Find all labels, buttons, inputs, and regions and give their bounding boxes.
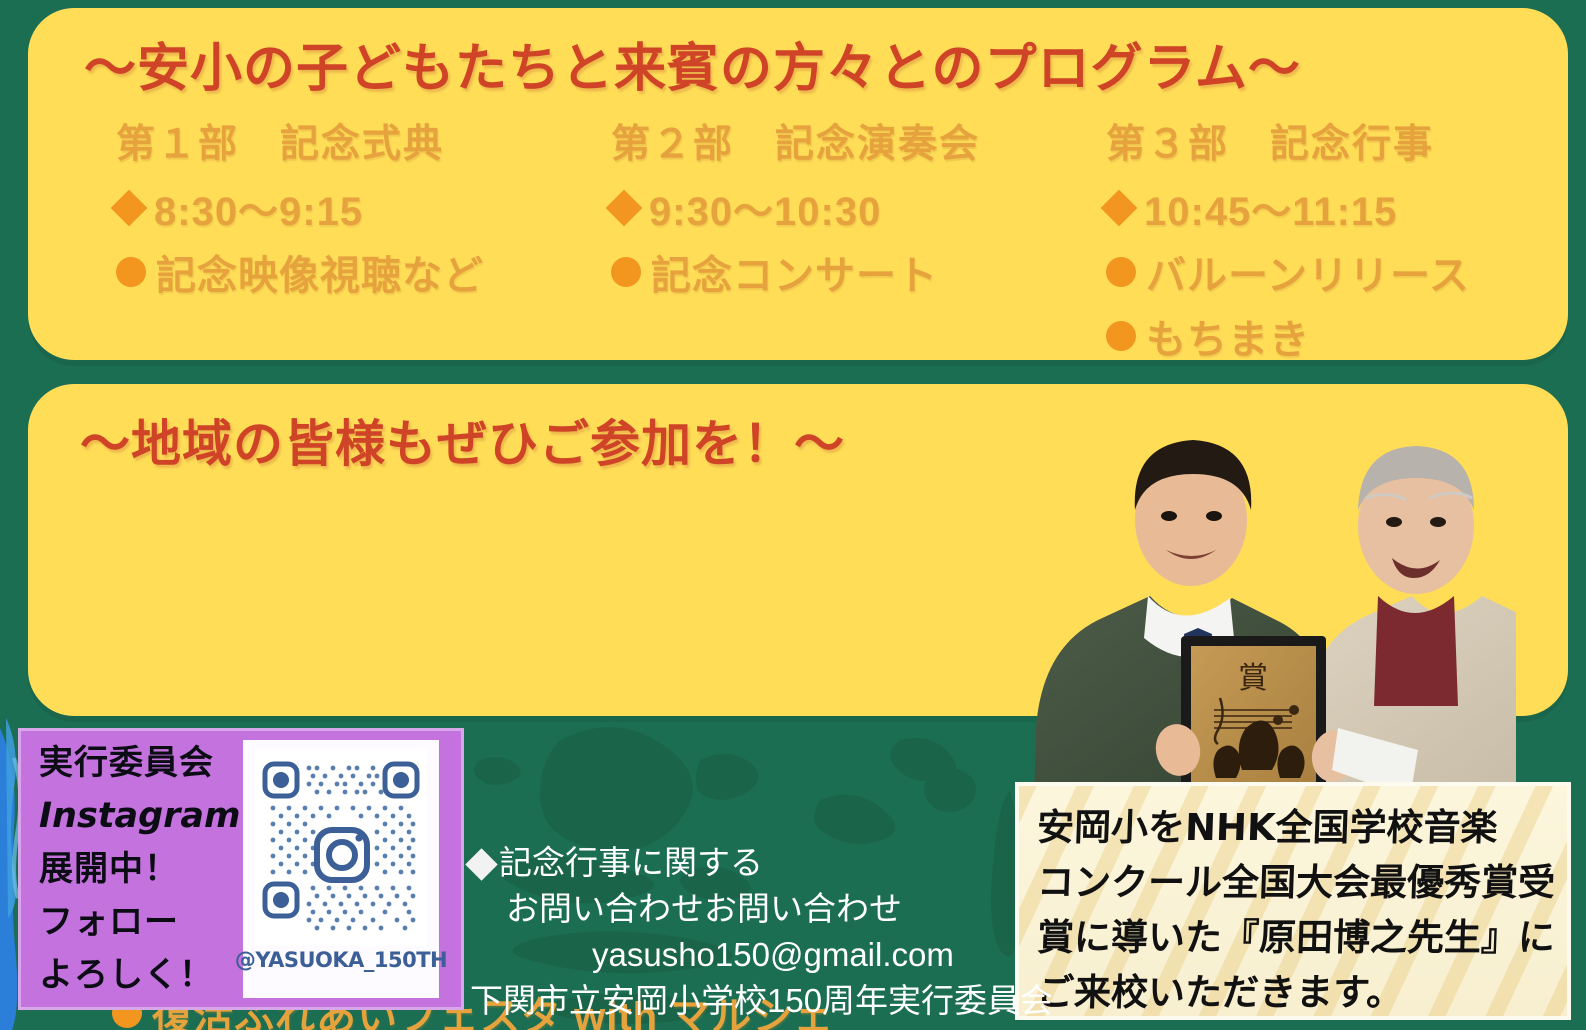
circle-bullet-icon [1106, 257, 1136, 287]
program-item-row: バルーンリリース [1106, 243, 1470, 301]
program-title: 第２部 記念演奏会 [611, 113, 980, 169]
instagram-promo-box[interactable]: 実行委員会 Instagram 展開中！ フォロー よろしく！ [18, 728, 464, 1010]
diamond-bullet-icon [1101, 190, 1138, 227]
community-heading: 〜地域の皆様もぜひご参加を！〜 [80, 404, 845, 476]
program-time: 8:30〜9:15 [154, 179, 363, 237]
program-time: 9:30〜10:30 [649, 179, 881, 237]
note-line: ご来校いただきます。 [1036, 965, 1552, 1020]
svg-text:賞: 賞 [1238, 661, 1268, 696]
qr-code-icon[interactable] [255, 750, 427, 946]
program-title: 第３部 記念行事 [1106, 113, 1470, 169]
program-item-row: 記念コンサート [611, 243, 980, 301]
program-time-row: 10:45〜11:15 [1106, 179, 1470, 237]
guest-announcement-note: 安岡小をNHK全国学校音楽 コンクール全国大会最優秀賞受 賞に導いた『原田博之先… [1015, 782, 1571, 1020]
diamond-bullet-icon [465, 848, 498, 881]
instagram-line: 実行委員会 [39, 737, 239, 790]
program-column-part3: 第３部 記念行事 10:45〜11:15 バルーンリリース もちまき [1106, 113, 1470, 371]
note-line: コンクール全国大会最優秀賞受 [1036, 855, 1552, 910]
program-item: 記念コンサート [651, 243, 938, 301]
instagram-line: よろしく！ [39, 949, 239, 1002]
program-title: 第１部 記念式典 [116, 113, 484, 169]
programs-heading: 〜安小の子どもたちと来賓の方々とのプログラム〜 [84, 26, 1301, 101]
circle-bullet-icon [611, 257, 641, 287]
circle-bullet-icon [116, 257, 146, 287]
program-time-row: 9:30〜10:30 [611, 179, 980, 237]
circle-bullet-icon [1106, 321, 1136, 351]
instagram-line: フォロー [39, 896, 239, 949]
award-photo: 賞 [1006, 398, 1516, 798]
program-item: もちまき [1146, 307, 1310, 365]
program-item-row: もちまき [1106, 307, 1470, 365]
program-time: 10:45〜11:15 [1144, 179, 1397, 237]
contact-organization: 下関市立安岡小学校150周年実行委員会 [470, 978, 1010, 1024]
contact-line: 記念行事に関する [470, 840, 1010, 886]
instagram-copy: 実行委員会 Instagram 展開中！ フォロー よろしく！ [21, 737, 239, 1002]
diamond-bullet-icon [111, 190, 148, 227]
program-item-row: 記念映像視聴など [116, 243, 484, 301]
contact-line: お問い合わせお問い合わせ [470, 886, 1010, 932]
program-time-row: 8:30〜9:15 [116, 179, 484, 237]
poster-root: 〜安小の子どもたちと来賓の方々とのプログラム〜 第１部 記念式典 8:30〜9:… [0, 0, 1586, 1030]
contact-text: 記念行事に関する [499, 844, 763, 881]
program-item: 記念映像視聴など [156, 243, 484, 301]
instagram-line: Instagram [39, 790, 239, 843]
instagram-handle: @YASUOKA_150TH [235, 948, 447, 972]
program-item: バルーンリリース [1146, 243, 1470, 301]
program-column-part2: 第２部 記念演奏会 9:30〜10:30 記念コンサート [611, 113, 980, 307]
diamond-bullet-icon [606, 190, 643, 227]
instagram-line: 展開中！ [39, 843, 239, 896]
note-line: 賞に導いた『原田博之先生』に [1036, 910, 1552, 965]
program-column-part1: 第１部 記念式典 8:30〜9:15 記念映像視聴など [116, 113, 484, 307]
note-line: 安岡小をNHK全国学校音楽 [1036, 800, 1552, 855]
contact-email[interactable]: yasusho150@gmail.com [470, 932, 1010, 978]
contact-block: 記念行事に関する お問い合わせお問い合わせ yasusho150@gmail.c… [470, 840, 1010, 1024]
instagram-qr-card[interactable]: @YASUOKA_150TH [243, 740, 439, 998]
programs-panel: 〜安小の子どもたちと来賓の方々とのプログラム〜 第１部 記念式典 8:30〜9:… [28, 8, 1568, 360]
